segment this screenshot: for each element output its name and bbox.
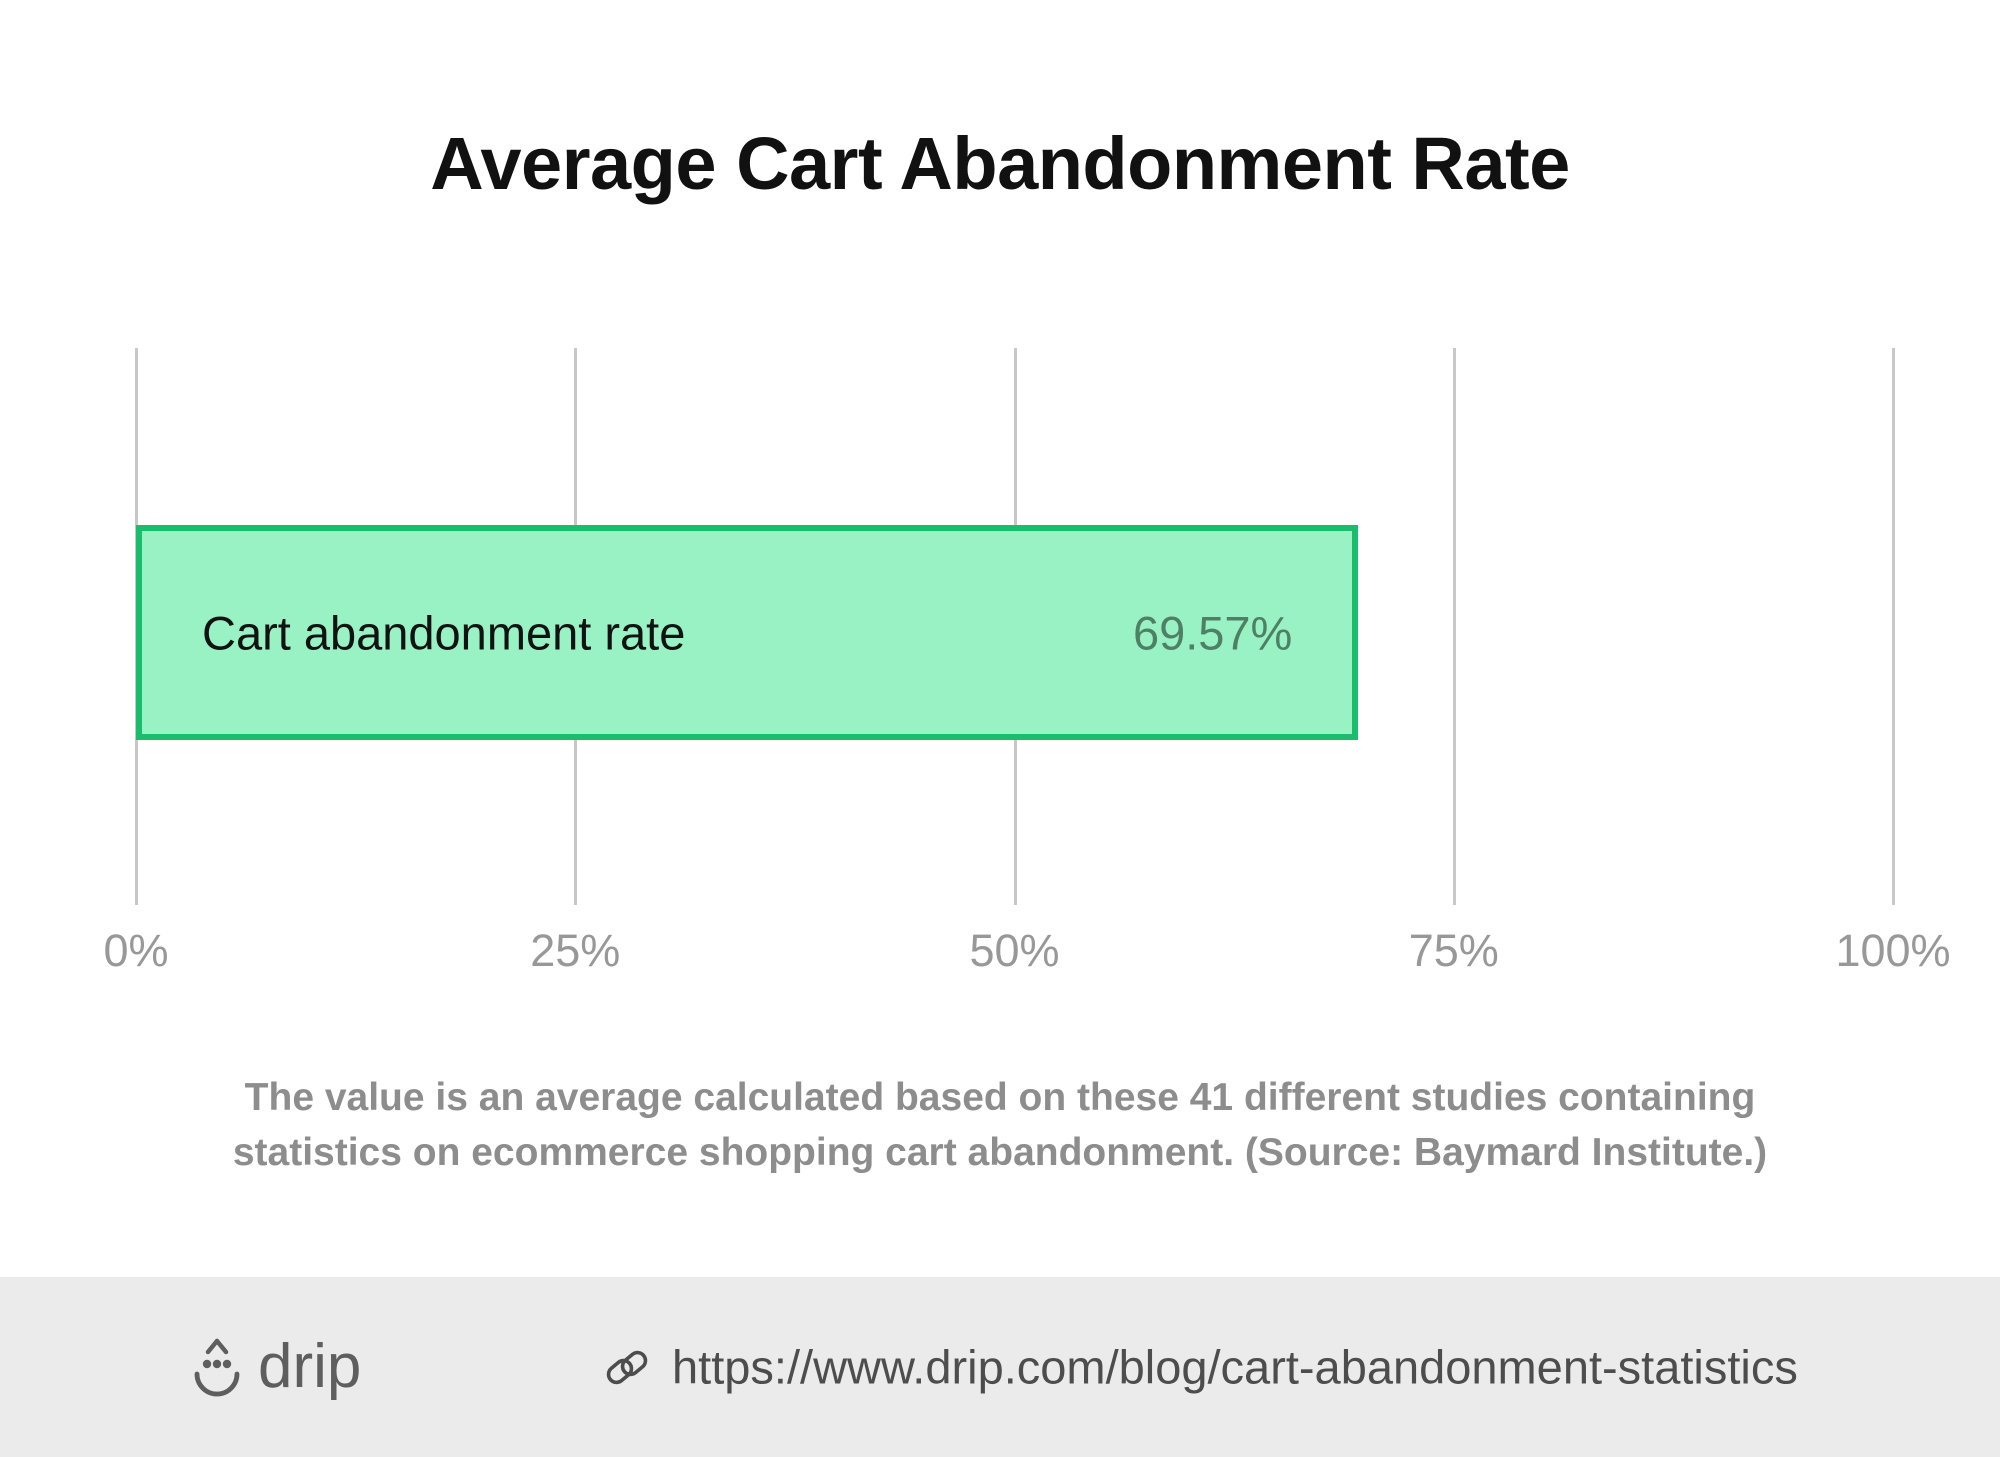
chart-plot-area: Cart abandonment rate 69.57% (136, 348, 1893, 905)
caption-line-1: The value is an average calculated based… (140, 1070, 1860, 1125)
x-tick-label: 75% (1409, 925, 1499, 977)
brand-wordmark: drip (258, 1336, 361, 1398)
bar-row: Cart abandonment rate 69.57% (136, 525, 1893, 740)
chain-link-icon (604, 1344, 650, 1390)
x-axis-tick-labels: 0% 25% 50% 75% 100% (136, 925, 1893, 995)
x-tick-label: 0% (103, 925, 168, 977)
bar-category-label: Cart abandonment rate (202, 605, 685, 660)
x-tick-label: 50% (969, 925, 1059, 977)
x-tick-label: 100% (1835, 925, 1950, 977)
page-title: Average Cart Abandonment Rate (0, 125, 2000, 203)
bar-value-label: 69.57% (1133, 605, 1292, 660)
brand-logo: drip (186, 1336, 361, 1398)
source-url-text: https://www.drip.com/blog/cart-abandonme… (672, 1340, 1798, 1395)
source-url-link[interactable]: https://www.drip.com/blog/cart-abandonme… (604, 1340, 1798, 1395)
infographic-canvas: Average Cart Abandonment Rate Cart aband… (0, 0, 2000, 1457)
bar-cart-abandonment-rate: Cart abandonment rate 69.57% (136, 525, 1358, 740)
drip-smiley-icon (186, 1336, 248, 1398)
caption-line-2: statistics on ecommerce shopping cart ab… (140, 1125, 1860, 1180)
chart-caption: The value is an average calculated based… (140, 1070, 1860, 1181)
footer-bar: drip https://www.drip.com/blog/cart-aban… (0, 1277, 2000, 1457)
x-tick-label: 25% (530, 925, 620, 977)
